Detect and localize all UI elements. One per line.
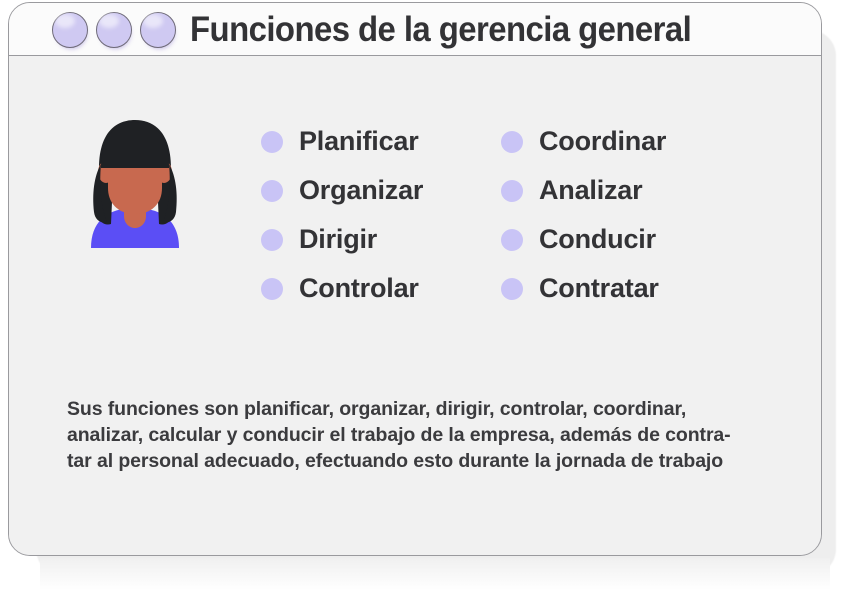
window-dot-gloss xyxy=(143,14,163,28)
window-dot-gloss xyxy=(99,14,119,28)
bullet-icon xyxy=(261,131,283,153)
window-maximize-icon[interactable] xyxy=(140,12,176,48)
function-item-planificar[interactable]: Planificar xyxy=(261,126,501,157)
window-dot-gloss xyxy=(55,14,75,28)
function-item-organizar[interactable]: Organizar xyxy=(261,175,501,206)
window-close-icon[interactable] xyxy=(52,12,88,48)
function-label: Organizar xyxy=(299,175,423,206)
function-label: Contratar xyxy=(539,273,659,304)
summary-line: tar al personal adecuado, efectuando est… xyxy=(67,448,797,474)
bullet-icon xyxy=(501,180,523,202)
bullet-icon xyxy=(261,229,283,251)
function-label: Dirigir xyxy=(299,224,377,255)
function-label: Analizar xyxy=(539,175,642,206)
canvas-bottom-haze xyxy=(40,558,830,590)
summary-line: analizar, calcular y conducir el trabajo… xyxy=(67,422,797,448)
function-item-contratar[interactable]: Contratar xyxy=(501,273,721,304)
bullet-icon xyxy=(501,278,523,300)
bullet-icon xyxy=(501,131,523,153)
functions-grid: Planificar Coordinar Organizar Analizar … xyxy=(261,117,721,313)
window-controls xyxy=(52,12,176,48)
function-item-dirigir[interactable]: Dirigir xyxy=(261,224,501,255)
application-window: Funciones de la gerencia general xyxy=(8,2,822,556)
window-titlebar: Funciones de la gerencia general xyxy=(9,3,821,56)
function-label: Conducir xyxy=(539,224,656,255)
manager-avatar xyxy=(79,116,191,248)
function-item-analizar[interactable]: Analizar xyxy=(501,175,721,206)
bullet-icon xyxy=(261,180,283,202)
bullet-icon xyxy=(501,229,523,251)
function-label: Coordinar xyxy=(539,126,666,157)
summary-line: Sus funciones son planificar, organizar,… xyxy=(67,396,797,422)
slide-canvas: Funciones de la gerencia general xyxy=(0,0,850,597)
page-title: Funciones de la gerencia general xyxy=(190,12,691,47)
function-item-controlar[interactable]: Controlar xyxy=(261,273,501,304)
window-content: Planificar Coordinar Organizar Analizar … xyxy=(9,56,821,555)
function-label: Controlar xyxy=(299,273,419,304)
bullet-icon xyxy=(261,278,283,300)
window-minimize-icon[interactable] xyxy=(96,12,132,48)
function-item-coordinar[interactable]: Coordinar xyxy=(501,126,721,157)
function-item-conducir[interactable]: Conducir xyxy=(501,224,721,255)
function-label: Planificar xyxy=(299,126,419,157)
summary-paragraph: Sus funciones son planificar, organizar,… xyxy=(67,396,797,474)
